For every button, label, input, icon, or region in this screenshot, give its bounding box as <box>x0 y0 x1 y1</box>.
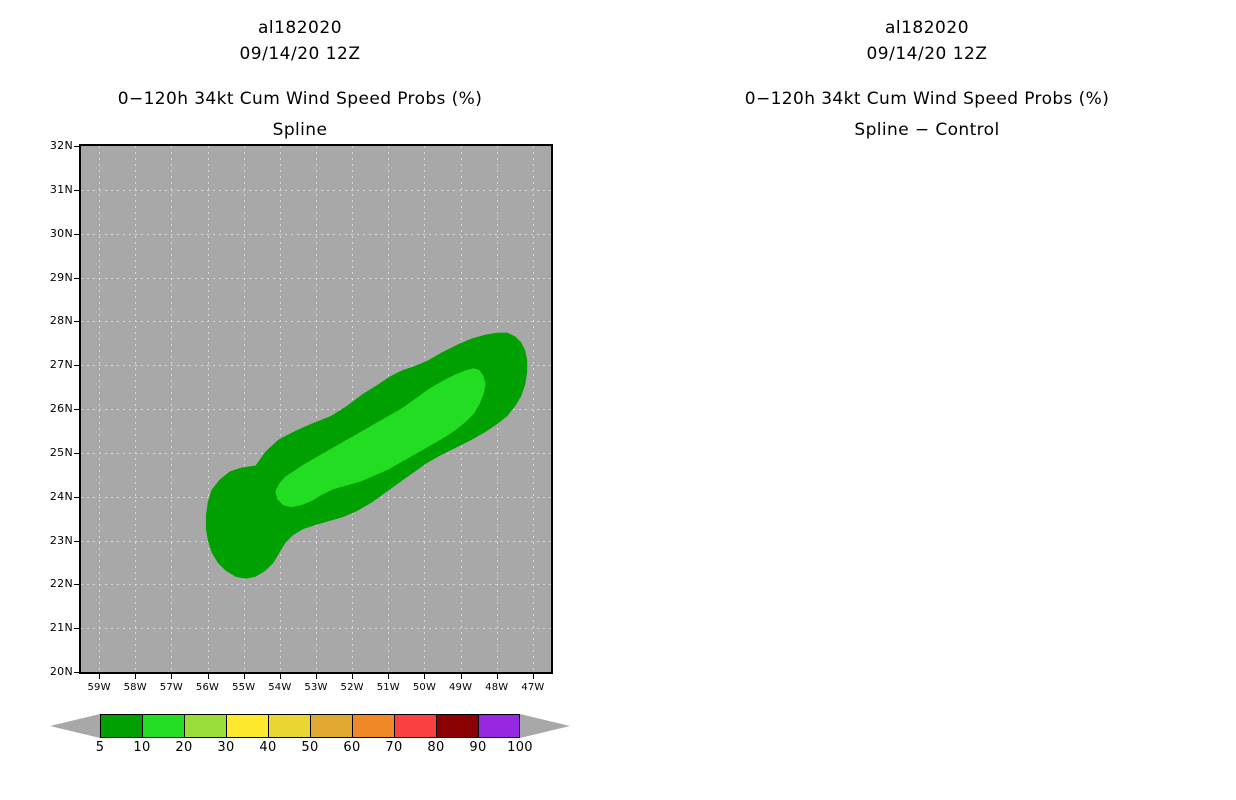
x-axis-label: 59W <box>81 682 117 693</box>
y-axis-tick <box>74 672 79 673</box>
y-axis-tick <box>74 409 79 410</box>
colorbar-tick-label: 20 <box>164 740 204 755</box>
x-axis-tick <box>533 674 534 679</box>
colorbar-tick-label: 70 <box>374 740 414 755</box>
x-axis-tick <box>280 674 281 679</box>
colorbar-left-arrow-low <box>50 714 100 738</box>
storm-id-left: al182020 <box>0 18 609 38</box>
colorbar-band[interactable] <box>310 714 352 738</box>
colorbar-tick-label: 40 <box>248 740 288 755</box>
colorbar-tick-label: 50 <box>290 740 330 755</box>
storm-date-left: 09/14/20 12Z <box>0 44 609 64</box>
colorbar-band[interactable] <box>352 714 394 738</box>
sub-title-left: Spline <box>0 120 609 140</box>
y-axis-tick <box>74 584 79 585</box>
colorbar-band[interactable] <box>100 714 142 738</box>
colorbar-band[interactable] <box>478 714 520 738</box>
contour-overlay-spline <box>81 146 551 672</box>
y-axis-label: 23N <box>33 534 73 547</box>
x-axis-tick <box>244 674 245 679</box>
y-axis-tick <box>74 497 79 498</box>
colorbar-left-arrow-high <box>520 714 570 738</box>
y-axis-label: 25N <box>33 446 73 459</box>
panel-spline: al182020 09/14/20 12Z 0−120h 34kt Cum Wi… <box>0 0 618 800</box>
y-axis-tick <box>74 541 79 542</box>
y-axis-label: 26N <box>33 402 73 415</box>
x-axis-label: 58W <box>117 682 153 693</box>
x-axis-tick <box>461 674 462 679</box>
y-axis-tick <box>74 453 79 454</box>
main-title-right: 0−120h 34kt Cum Wind Speed Probs (%) <box>618 89 1236 109</box>
x-axis-label: 52W <box>334 682 370 693</box>
y-axis-label: 20N <box>33 665 73 678</box>
y-axis-tick <box>74 190 79 191</box>
colorbar-probability[interactable]: 5102030405060708090100 <box>50 714 570 762</box>
x-axis-tick <box>208 674 209 679</box>
y-axis-tick <box>74 278 79 279</box>
colorbar-tick-label: 90 <box>458 740 498 755</box>
colorbar-band[interactable] <box>184 714 226 738</box>
y-axis-tick <box>74 146 79 147</box>
y-axis-tick <box>74 365 79 366</box>
x-axis-label: 53W <box>298 682 334 693</box>
x-axis-label: 57W <box>153 682 189 693</box>
y-axis-label: 22N <box>33 577 73 590</box>
sub-title-right: Spline − Control <box>618 120 1236 140</box>
colorbar-tick-label: 5 <box>80 740 120 755</box>
colorbar-tick-label: 60 <box>332 740 372 755</box>
storm-id-right: al182020 <box>618 18 1236 38</box>
y-axis-label: 28N <box>33 314 73 327</box>
y-axis-label: 27N <box>33 358 73 371</box>
x-axis-tick <box>388 674 389 679</box>
colorbar-left-bands[interactable] <box>100 714 520 738</box>
x-axis-tick <box>316 674 317 679</box>
x-axis-tick <box>424 674 425 679</box>
panel-spline-minus-control: al182020 09/14/20 12Z 0−120h 34kt Cum Wi… <box>618 0 1236 800</box>
map-plot-spline[interactable] <box>79 144 553 674</box>
storm-date-right: 09/14/20 12Z <box>618 44 1236 64</box>
x-axis-label: 48W <box>479 682 515 693</box>
y-axis-label: 32N <box>33 139 73 152</box>
colorbar-band[interactable] <box>436 714 478 738</box>
x-axis-tick <box>135 674 136 679</box>
x-axis-label: 54W <box>262 682 298 693</box>
colorbar-band[interactable] <box>394 714 436 738</box>
x-axis-label: 56W <box>190 682 226 693</box>
colorbar-tick-label: 100 <box>500 740 540 755</box>
y-axis-tick <box>74 234 79 235</box>
main-title-left: 0−120h 34kt Cum Wind Speed Probs (%) <box>0 89 609 109</box>
y-axis-label: 31N <box>33 183 73 196</box>
colorbar-tick-label: 80 <box>416 740 456 755</box>
x-axis-tick <box>352 674 353 679</box>
x-axis-tick <box>171 674 172 679</box>
x-axis-tick <box>99 674 100 679</box>
colorbar-band[interactable] <box>142 714 184 738</box>
x-axis-label: 55W <box>226 682 262 693</box>
gridline-horizontal <box>81 672 551 673</box>
y-axis-label: 21N <box>33 621 73 634</box>
x-axis-label: 49W <box>443 682 479 693</box>
y-axis-label: 30N <box>33 227 73 240</box>
colorbar-band[interactable] <box>226 714 268 738</box>
x-axis-label: 51W <box>370 682 406 693</box>
x-axis-tick <box>497 674 498 679</box>
colorbar-tick-label: 30 <box>206 740 246 755</box>
x-axis-label: 50W <box>406 682 442 693</box>
y-axis-tick <box>74 628 79 629</box>
y-axis-label: 29N <box>33 271 73 284</box>
x-axis-label: 47W <box>515 682 551 693</box>
colorbar-tick-label: 10 <box>122 740 162 755</box>
colorbar-band[interactable] <box>268 714 310 738</box>
y-axis-label: 24N <box>33 490 73 503</box>
y-axis-tick <box>74 321 79 322</box>
